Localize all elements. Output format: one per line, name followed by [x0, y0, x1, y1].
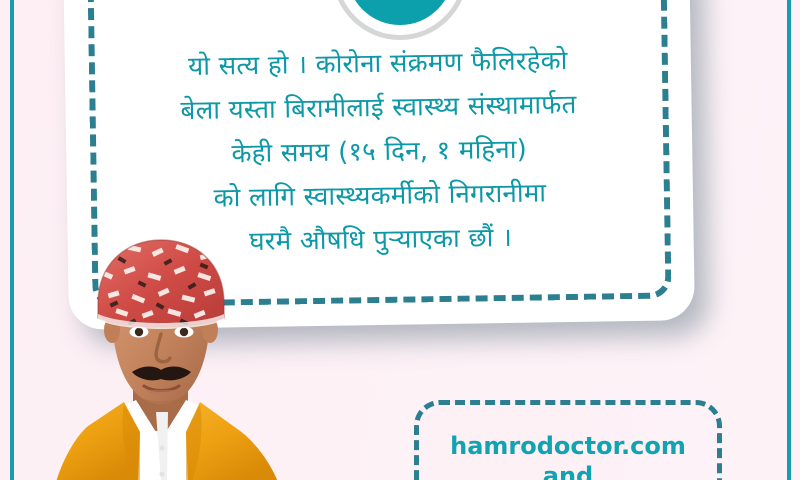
- left-edge-rule: [10, 0, 14, 480]
- poster-canvas: यो सत्य हो । कोरोना संक्रमण फैलिरहेको बे…: [0, 0, 800, 480]
- website-box: hamrodoctor.com and: [414, 400, 722, 480]
- quote-line: बेला यस्ता बिरामीलाई स्वास्थ्य संस्थामार…: [99, 82, 658, 135]
- right-edge-rule: [787, 0, 791, 480]
- portrait-photo: [28, 226, 328, 480]
- website-name[interactable]: hamrodoctor.com: [419, 431, 717, 461]
- website-conjunction: and: [419, 461, 717, 480]
- badge-core: [347, 0, 453, 25]
